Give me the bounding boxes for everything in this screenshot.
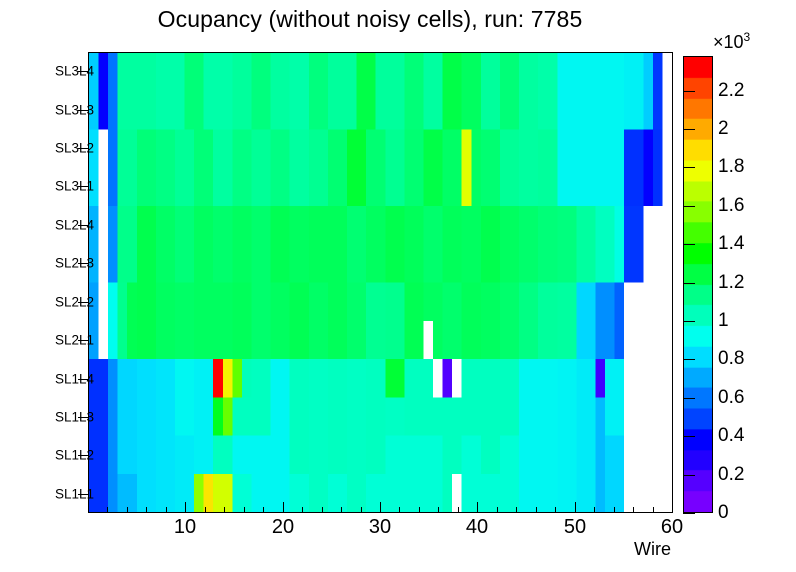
- y-axis-tick: [78, 302, 88, 303]
- x-axis-minor-tick: [107, 507, 108, 513]
- palette-gradient: [684, 57, 712, 512]
- palette-tick: [683, 513, 695, 514]
- palette-tick: [683, 244, 695, 245]
- y-axis-tick: [78, 110, 88, 111]
- y-axis-label-sl3l3: SL3L3: [55, 102, 94, 117]
- x-axis-major-tick: [672, 502, 673, 513]
- x-axis-major-tick: [283, 502, 284, 513]
- x-axis-minor-tick: [361, 507, 362, 513]
- x-axis-tick-label-30: 30: [369, 516, 391, 539]
- x-axis-minor-tick: [127, 507, 128, 513]
- x-axis-tick-label-40: 40: [466, 516, 488, 539]
- palette-tick-label-3: 0.6: [718, 387, 744, 409]
- y-axis-tick: [78, 148, 88, 149]
- y-axis-label-sl3l2: SL3L2: [55, 141, 94, 156]
- y-axis-tick: [78, 71, 88, 72]
- color-palette-bar: [683, 56, 713, 513]
- palette-tick-label-5: 1: [718, 310, 729, 332]
- heatmap-plot-area: [88, 52, 673, 513]
- y-axis-label-sl2l3: SL2L3: [55, 256, 94, 271]
- x-axis-minor-tick: [516, 507, 517, 513]
- palette-tick: [683, 398, 695, 399]
- x-axis-minor-tick: [224, 507, 225, 513]
- palette-tick: [683, 475, 695, 476]
- x-axis-minor-tick: [458, 507, 459, 513]
- palette-tick: [683, 167, 695, 168]
- x-axis-minor-tick: [146, 507, 147, 513]
- y-axis-tick: [78, 494, 88, 495]
- x-axis-minor-tick: [614, 507, 615, 513]
- y-axis-tick: [78, 455, 88, 456]
- y-axis-label-sl1l3: SL1L3: [55, 409, 94, 424]
- heatmap-canvas: [89, 53, 672, 512]
- y-axis-tick: [78, 379, 88, 380]
- x-axis-major-tick: [575, 502, 576, 513]
- heatmap-cells: [89, 53, 672, 512]
- palette-tick-label-1: 0.2: [718, 464, 744, 486]
- y-axis-label-sl3l4: SL3L4: [55, 64, 94, 79]
- y-axis-label-sl1l4: SL1L4: [55, 371, 94, 386]
- x-axis-tick-label-20: 20: [272, 516, 294, 539]
- y-axis-tick: [78, 225, 88, 226]
- y-axis-tick: [78, 263, 88, 264]
- palette-tick-label-10: 2: [718, 118, 729, 140]
- palette-tick-label-4: 0.8: [718, 348, 744, 370]
- x-axis-major-tick: [380, 502, 381, 513]
- palette-tick: [683, 321, 695, 322]
- palette-tick-label-8: 1.6: [718, 195, 744, 217]
- x-axis-tick-label-50: 50: [564, 516, 586, 539]
- palette-tick-label-9: 1.8: [718, 156, 744, 178]
- x-axis-tick-label-10: 10: [174, 516, 196, 539]
- y-axis-label-sl1l2: SL1L2: [55, 448, 94, 463]
- palette-tick: [683, 91, 695, 92]
- x-axis-minor-tick: [438, 507, 439, 513]
- x-axis-title: Wire: [634, 539, 671, 560]
- x-axis-minor-tick: [302, 507, 303, 513]
- palette-tick: [683, 206, 695, 207]
- palette-tick-label-6: 1.2: [718, 272, 744, 294]
- x-axis-minor-tick: [263, 507, 264, 513]
- y-axis-label-sl1l1: SL1L1: [55, 486, 94, 501]
- y-axis-label-sl2l2: SL2L2: [55, 294, 94, 309]
- palette-tick: [683, 283, 695, 284]
- x-axis-minor-tick: [399, 507, 400, 513]
- y-axis-tick: [78, 340, 88, 341]
- x-axis-minor-tick: [653, 507, 654, 513]
- x-axis-major-tick: [477, 502, 478, 513]
- x-axis-minor-tick: [244, 507, 245, 513]
- x-axis-minor-tick: [497, 507, 498, 513]
- y-axis-label-sl2l4: SL2L4: [55, 217, 94, 232]
- x-axis-minor-tick: [205, 507, 206, 513]
- palette-tick-label-11: 2.2: [718, 80, 744, 102]
- x-axis-minor-tick: [536, 507, 537, 513]
- palette-tick-label-7: 1.4: [718, 233, 744, 255]
- x-axis-minor-tick: [555, 507, 556, 513]
- x-axis-minor-tick: [166, 507, 167, 513]
- y-axis-label-sl2l1: SL2L1: [55, 333, 94, 348]
- page-title: Ocupancy (without noisy cells), run: 778…: [0, 6, 740, 33]
- y-axis-tick: [78, 417, 88, 418]
- y-axis-tick: [78, 186, 88, 187]
- palette-tick-label-2: 0.4: [718, 425, 744, 447]
- x-axis-minor-tick: [341, 507, 342, 513]
- y-axis-label-sl3l1: SL3L1: [55, 179, 94, 194]
- x-axis-minor-tick: [322, 507, 323, 513]
- x-axis-major-tick: [185, 502, 186, 513]
- x-axis-minor-tick: [633, 507, 634, 513]
- palette-tick: [683, 359, 695, 360]
- palette-multiplier: ×103: [713, 30, 750, 53]
- palette-tick-label-0: 0: [718, 502, 729, 524]
- palette-tick: [683, 129, 695, 130]
- palette-tick: [683, 436, 695, 437]
- x-axis-minor-tick: [419, 507, 420, 513]
- x-axis-minor-tick: [594, 507, 595, 513]
- x-axis-tick-label-60: 60: [661, 516, 683, 539]
